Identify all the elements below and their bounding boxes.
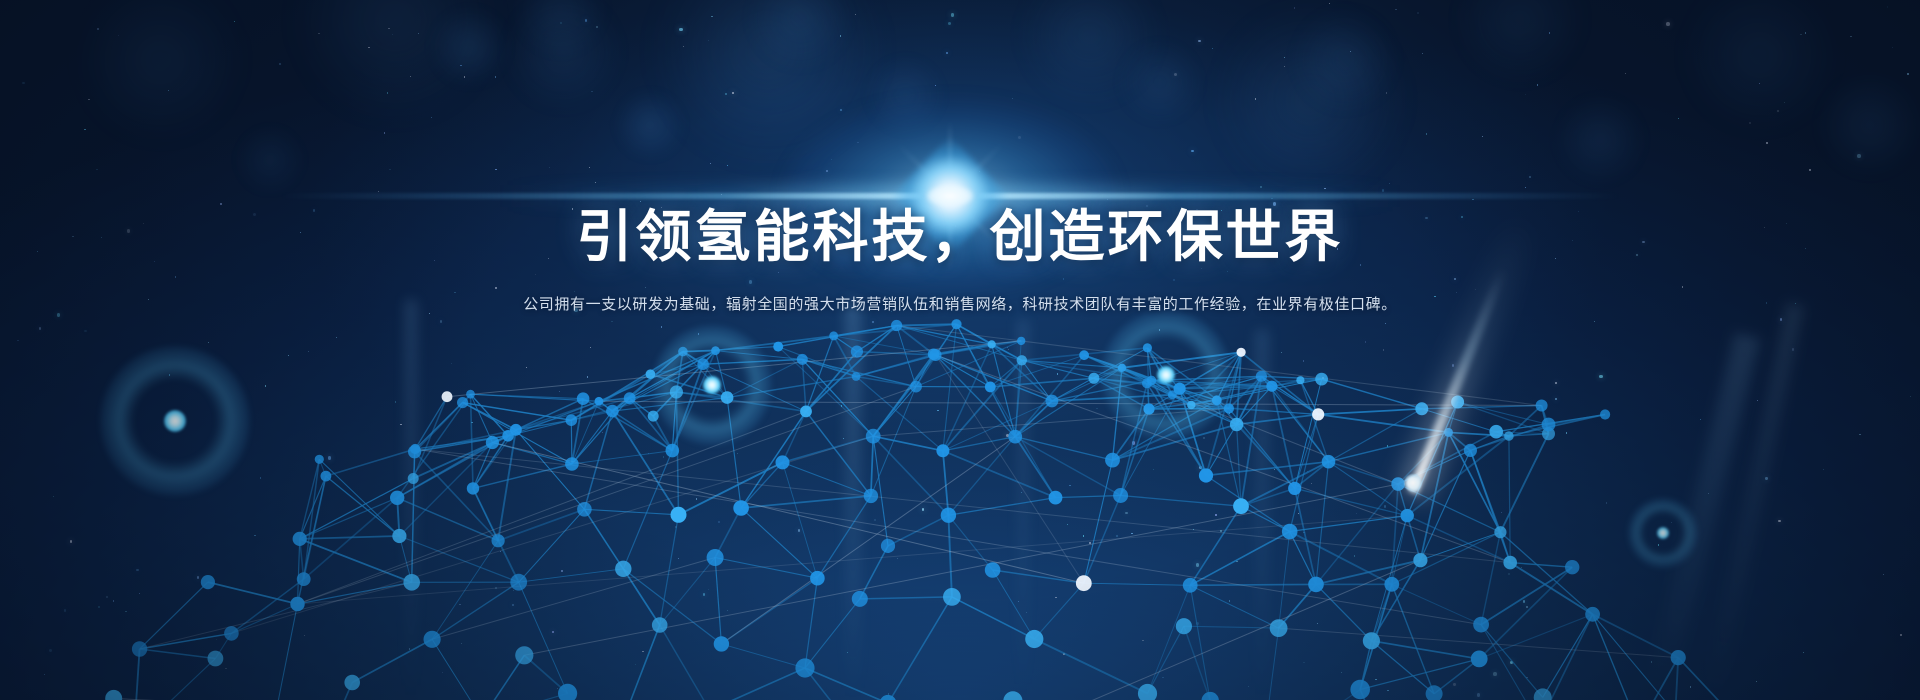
mesh-edge (778, 347, 856, 377)
mesh-node (1003, 691, 1022, 700)
mesh-node (797, 354, 808, 365)
mesh-edge (721, 644, 805, 668)
mesh-edge (1056, 496, 1121, 498)
mesh-node (615, 561, 631, 577)
mesh-edge (1190, 585, 1210, 700)
mesh-node (392, 529, 406, 543)
mesh-edge (1500, 532, 1592, 614)
mesh-node (1143, 403, 1154, 414)
mesh-node (1504, 431, 1514, 441)
mesh-node (910, 381, 922, 393)
mesh-edge (860, 597, 952, 599)
mesh-edge (1329, 432, 1449, 461)
mesh-edge (1148, 585, 1191, 693)
mesh-edge (1407, 436, 1509, 516)
mesh-edge (1290, 532, 1392, 585)
mesh-edge (471, 394, 584, 399)
mesh-node (577, 392, 590, 405)
mesh-node (1224, 403, 1234, 413)
mesh-node (1049, 491, 1063, 505)
mesh-edge (871, 436, 873, 496)
mesh-node (457, 397, 468, 408)
banner-copy: 引领氢能科技，创造环保世界 公司拥有一支以研发为基础，辐射全国的强大市场营销队伍… (0, 206, 1920, 316)
mesh-edge (1639, 658, 1678, 700)
mesh-edge (471, 394, 509, 436)
mesh-node (1088, 373, 1099, 384)
mesh-node (297, 572, 311, 586)
mesh-edge (948, 515, 952, 597)
mesh-node (646, 369, 656, 379)
mesh-node (1187, 401, 1195, 409)
mesh-edge (1241, 462, 1329, 507)
mesh-node (344, 675, 360, 691)
mesh-node (852, 591, 868, 607)
mesh-edge (806, 336, 834, 412)
mesh-edge (860, 546, 888, 599)
mesh-node (1202, 692, 1219, 700)
mesh-node (1585, 607, 1600, 622)
mesh-node (851, 346, 863, 358)
mesh-node (293, 532, 307, 546)
mesh-node (652, 617, 668, 633)
mesh-edge (856, 377, 916, 387)
mesh-edge (716, 351, 803, 360)
mesh-edge (1593, 614, 1679, 657)
mesh-node (943, 588, 961, 606)
mesh-node (1113, 488, 1128, 503)
mesh-node (648, 411, 659, 422)
mesh-node (864, 489, 878, 503)
mesh-node (1426, 685, 1443, 700)
mesh-node (880, 695, 897, 700)
mesh-node (1565, 560, 1579, 574)
mesh-node (132, 641, 147, 656)
mesh-edge (1371, 641, 1479, 659)
mesh-edge (943, 451, 1056, 498)
mesh-node (1266, 381, 1277, 392)
mesh-node (403, 574, 420, 591)
mesh-node (1312, 408, 1324, 420)
mesh-edge (1190, 584, 1316, 585)
mesh-node (1017, 355, 1027, 365)
banner-subline: 公司拥有一支以研发为基础，辐射全国的强大市场营销队伍和销售网络，科研技术团队有丰… (0, 292, 1920, 316)
mesh-node (105, 690, 122, 700)
mesh-edge (1420, 532, 1500, 560)
mesh-node (1451, 396, 1464, 409)
mesh-node (1536, 400, 1548, 412)
mesh-edges (28, 324, 1744, 700)
mesh-node (566, 414, 578, 426)
mesh-node (467, 482, 479, 494)
mesh-node (565, 457, 579, 471)
mesh-node (721, 391, 734, 404)
mesh-node (670, 385, 683, 398)
mesh-node (1503, 556, 1517, 570)
mesh-node (711, 346, 720, 355)
mesh-node (558, 684, 577, 700)
mesh-edge (1084, 460, 1113, 583)
mesh-node (1230, 418, 1243, 431)
mesh-edge (1316, 560, 1420, 584)
mesh-edge (498, 509, 584, 540)
mesh-edge (432, 582, 519, 639)
mesh-edge (1543, 614, 1593, 697)
mesh-edge (352, 639, 432, 682)
mesh-edge (272, 604, 298, 700)
mesh-edge (1509, 406, 1542, 437)
network-mesh (0, 0, 1920, 700)
mesh-edge (1241, 488, 1295, 506)
mesh-node (707, 549, 724, 566)
mesh-edge (992, 344, 1052, 401)
mesh-node (1079, 350, 1089, 360)
mesh-node (486, 436, 499, 449)
mesh-edge (1318, 409, 1422, 415)
mesh-edge (1121, 496, 1241, 507)
mesh-edge (1015, 437, 1112, 461)
mesh-edge (873, 354, 933, 436)
mesh-node (1046, 395, 1059, 408)
mesh-edge (805, 668, 862, 700)
mesh-edge (1290, 532, 1316, 585)
mesh-node (1494, 526, 1506, 538)
mesh-edge (1015, 368, 1122, 437)
mesh-edge (1034, 639, 1147, 694)
mesh-edge (943, 401, 1052, 451)
mesh-edge (1318, 414, 1448, 432)
mesh-edge (727, 377, 856, 398)
mesh-node (800, 406, 812, 418)
mesh-node (936, 444, 949, 457)
mesh-node (928, 349, 939, 360)
mesh-edge (1678, 658, 1744, 700)
mesh-edge (572, 451, 672, 464)
mesh-edge (1206, 462, 1329, 476)
mesh-edge (1262, 628, 1279, 700)
mesh-node (1142, 379, 1152, 389)
mesh-edge (1329, 409, 1422, 462)
mesh-node (1025, 630, 1043, 648)
mesh-edge (1122, 352, 1241, 368)
mesh-edge (710, 668, 805, 700)
mesh-node (941, 508, 956, 523)
mesh-edge (326, 449, 415, 476)
mesh-node (1233, 498, 1249, 514)
mesh-edge (432, 541, 498, 640)
mesh-node (1384, 577, 1399, 592)
mesh-edge (1022, 360, 1152, 380)
mesh-edge (298, 582, 412, 604)
hero-banner: 引领氢能科技，创造环保世界 公司拥有一支以研发为基础，辐射全国的强大市场营销队伍… (0, 0, 1920, 700)
mesh-edge (727, 398, 741, 508)
mesh-edge (1593, 614, 1676, 700)
mesh-edge (1190, 532, 1290, 586)
mesh-edge (1420, 450, 1470, 560)
mesh-node (424, 631, 441, 648)
mesh-node (951, 319, 961, 329)
mesh-edge (1481, 532, 1500, 624)
mesh-node (1176, 618, 1192, 634)
mesh-node (510, 574, 527, 591)
mesh-node (624, 392, 636, 404)
mesh-node (208, 651, 224, 667)
mesh-edge (1479, 614, 1592, 659)
mesh-node (733, 500, 749, 516)
mesh-node (1489, 425, 1503, 439)
mesh-node (881, 539, 895, 553)
mesh-edge (1470, 450, 1510, 562)
mesh-node (1444, 428, 1453, 437)
mesh-node (595, 397, 604, 406)
mesh-node (714, 636, 729, 651)
mesh-node (1168, 390, 1177, 399)
mesh-node (678, 347, 688, 357)
mesh-node (408, 473, 419, 484)
mesh-edge (1481, 567, 1572, 624)
mesh-node (866, 429, 881, 444)
mesh-node (1118, 364, 1126, 372)
mesh-node (988, 340, 996, 348)
mesh-node (577, 502, 592, 517)
mesh-node (1322, 455, 1336, 469)
mesh-edge (936, 355, 1016, 437)
mesh-edge (1190, 585, 1278, 628)
mesh-edge (630, 392, 677, 398)
mesh-edge (134, 659, 216, 700)
mesh-node (1308, 577, 1324, 593)
mesh-node (829, 331, 838, 340)
mesh-node (290, 597, 304, 611)
mesh-edge (623, 451, 672, 569)
mesh-node (466, 390, 475, 399)
mesh-node (810, 571, 825, 586)
mesh-edge (943, 324, 957, 451)
mesh-node (1363, 632, 1380, 649)
mesh-node (697, 358, 709, 370)
mesh-edge (1329, 462, 1399, 484)
mesh-edge (715, 558, 817, 579)
mesh-edge (1084, 583, 1190, 585)
mesh-edge (482, 655, 524, 700)
mesh-node (1076, 575, 1092, 591)
mesh-node (776, 455, 790, 469)
mesh-node (1105, 453, 1120, 468)
mesh-edge (584, 509, 623, 569)
mesh-edge (397, 394, 470, 498)
mesh-edge (1148, 626, 1184, 693)
mesh-edge (936, 355, 1084, 583)
mesh-edge (1481, 625, 1539, 700)
mesh-node (852, 372, 861, 381)
mesh-node (442, 391, 453, 402)
mesh-edge (660, 625, 710, 700)
mesh-node (1413, 553, 1427, 567)
mesh-node (1183, 578, 1198, 593)
mesh-node (1017, 337, 1025, 345)
mesh-edge (612, 411, 672, 451)
mesh-edge (1190, 506, 1241, 585)
mesh-edge (1593, 614, 1639, 700)
mesh-node (1282, 524, 1298, 540)
mesh-node (891, 320, 902, 331)
mesh-edge (1149, 409, 1229, 410)
mesh-edge (1184, 626, 1210, 700)
mesh-node (1008, 430, 1022, 444)
mesh-edge (432, 639, 482, 700)
mesh-node (985, 562, 1001, 578)
mesh-node (1288, 482, 1301, 495)
mesh-node (1270, 619, 1288, 637)
mesh-edge (1500, 434, 1548, 532)
mesh-edge (1371, 641, 1434, 694)
mesh-edge (519, 569, 624, 582)
mesh-node (1401, 509, 1414, 522)
mesh-node (515, 646, 533, 664)
mesh-edge (1360, 659, 1479, 690)
mesh-edge (1262, 690, 1360, 700)
mesh-node (1464, 444, 1477, 457)
mesh-edge (943, 451, 949, 515)
mesh-node (1473, 617, 1489, 633)
mesh-edge (319, 459, 399, 536)
mesh-node (985, 382, 996, 393)
mesh-edge (683, 347, 778, 352)
mesh-edge (1034, 583, 1084, 639)
mesh-node (1671, 650, 1686, 665)
mesh-node (492, 534, 505, 547)
mesh-node (1315, 373, 1328, 386)
mesh-node (795, 658, 814, 677)
mesh-edge (1481, 625, 1543, 698)
mesh-edge (817, 496, 871, 578)
mesh-node (773, 342, 783, 352)
mesh-edge (432, 558, 715, 640)
mesh-node (315, 455, 324, 464)
mesh-edge (1392, 532, 1501, 584)
mesh-edge (1509, 436, 1510, 563)
mesh-node (321, 471, 332, 482)
mesh-node (224, 626, 239, 641)
mesh-edge (897, 326, 916, 387)
mesh-node (1350, 680, 1370, 700)
mesh-edge (1407, 402, 1457, 516)
mesh-node (666, 444, 680, 458)
mesh-node (201, 575, 215, 589)
mesh-node (1256, 371, 1267, 382)
mesh-edge (519, 509, 585, 582)
mesh-node (1542, 418, 1556, 432)
mesh-node (606, 405, 619, 418)
mesh-edge (1052, 368, 1122, 401)
mesh-node (410, 444, 420, 454)
mesh-node (1199, 468, 1213, 482)
mesh-node (1391, 477, 1405, 491)
mesh-node (1143, 343, 1152, 352)
mesh-node (1415, 402, 1428, 415)
mesh-node (1296, 376, 1304, 384)
mesh-edge (1510, 563, 1572, 568)
mesh-edge (888, 597, 952, 700)
banner-headline: 引领氢能科技，创造环保世界 (0, 206, 1920, 270)
mesh-edge (300, 539, 412, 582)
mesh-edge (873, 436, 943, 451)
mesh-edge (660, 558, 715, 626)
mesh-edge (1279, 532, 1290, 629)
mesh-node (671, 507, 687, 523)
mesh-node (1600, 409, 1610, 419)
mesh-edge (1237, 414, 1319, 424)
mesh-edge (519, 582, 568, 693)
mesh-node (1471, 651, 1488, 668)
mesh-edge (1316, 484, 1398, 584)
mesh-node (1212, 395, 1222, 405)
mesh-node (390, 491, 404, 505)
mesh-edge (783, 462, 818, 578)
mesh-edge (1015, 401, 1052, 437)
mesh-edge (140, 582, 412, 649)
mesh-node (1138, 684, 1157, 700)
mesh-node (1237, 348, 1246, 357)
mesh-node (510, 424, 522, 436)
mesh-edge (140, 649, 216, 659)
